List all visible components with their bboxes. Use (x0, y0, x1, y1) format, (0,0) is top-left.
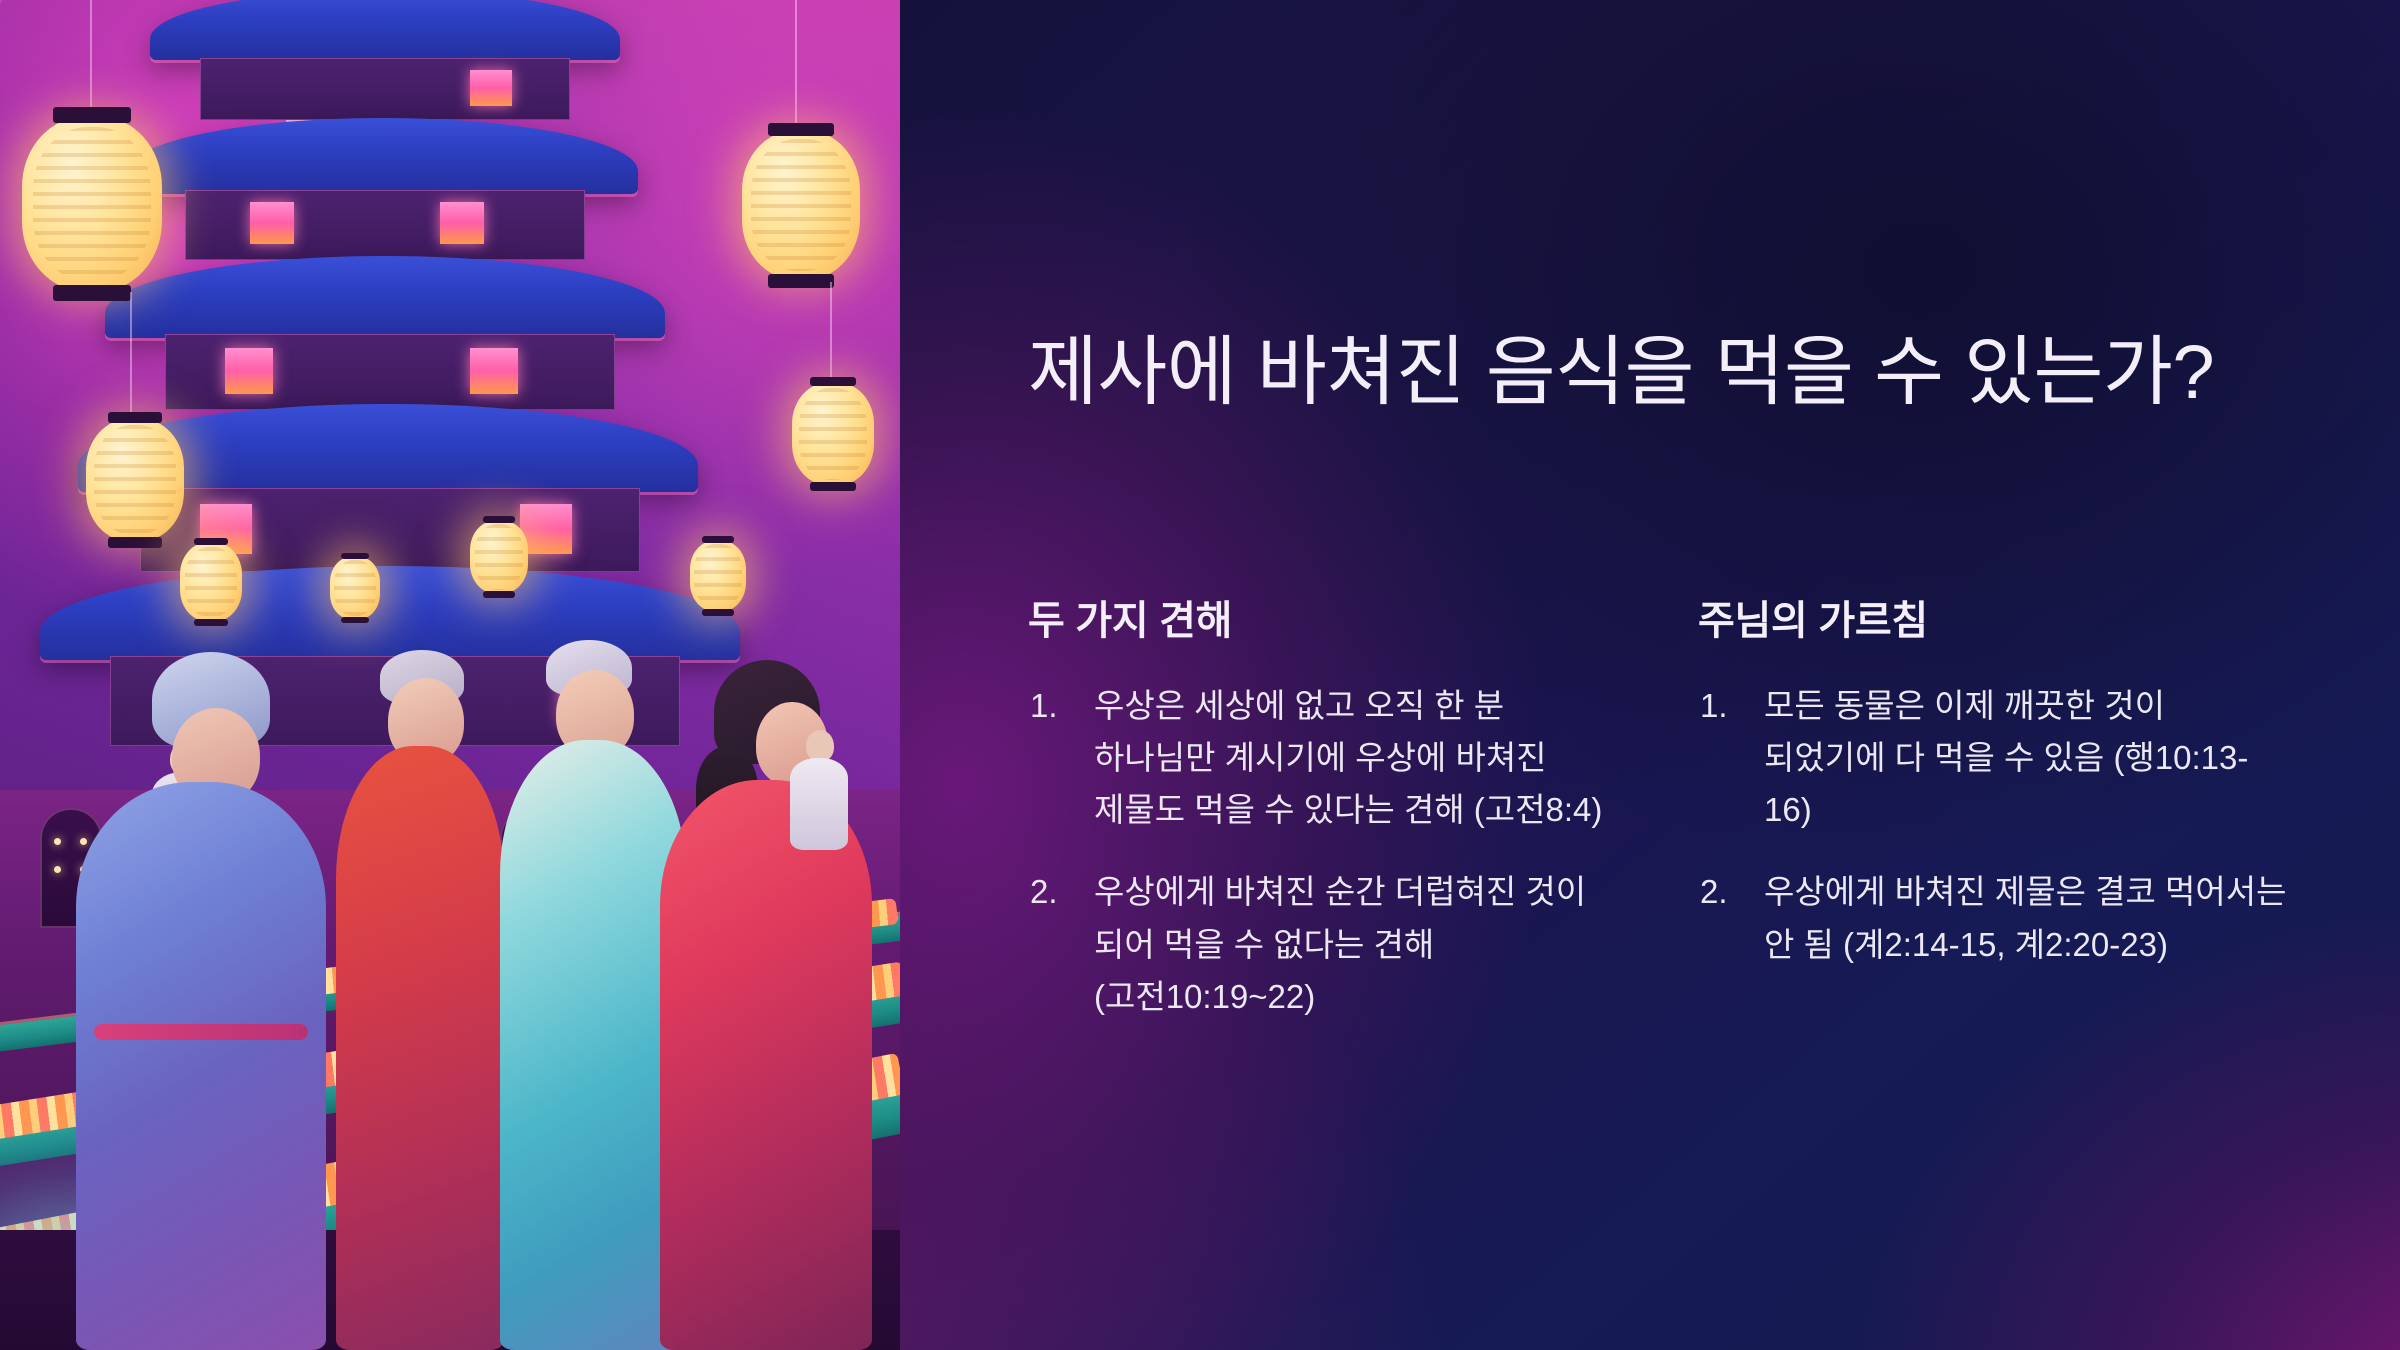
list-marker: 2. (1700, 866, 1746, 918)
list-item: 2. 우상에게 바쳐진 제물은 결코 먹어서는 안 됨 (계2:14-15, 계… (1698, 866, 2288, 970)
pagoda-storey-2 (185, 190, 585, 260)
figure-robe-teal (500, 740, 686, 1350)
lantern-ribbing (799, 388, 868, 480)
paper-lantern (742, 130, 860, 280)
paper-lantern (690, 540, 746, 612)
lantern-ribbing (475, 524, 524, 589)
list-marker: 1. (1700, 680, 1746, 732)
pagoda-window (470, 70, 512, 106)
lantern-ribbing (94, 425, 176, 534)
column-lords-teaching: 주님의 가르침 1. 모든 동물은 이제 깨끗한 것이 되었기에 다 먹을 수 … (1698, 588, 2288, 1053)
content-columns: 두 가지 견해 1. 우상은 세상에 없고 오직 한 분 하나님만 계시기에 우… (1028, 588, 2318, 1053)
lantern-ribbing (694, 544, 741, 607)
paper-lantern (22, 116, 162, 292)
pagoda-storey-1 (200, 58, 570, 120)
column-heading-lords-teaching: 주님의 가르침 (1698, 588, 2288, 646)
list-two-views: 1. 우상은 세상에 없고 오직 한 분 하나님만 계시기에 우상에 바쳐진 제… (1028, 680, 1618, 1023)
paper-lantern (330, 556, 380, 620)
figure-robe-crimson (660, 780, 872, 1350)
figure-sash (94, 1024, 308, 1040)
pagoda-roof-1 (150, 0, 620, 60)
arch-light (54, 838, 61, 845)
arch-light (54, 866, 61, 873)
paper-lantern (86, 418, 184, 542)
lantern-ribbing (751, 139, 850, 271)
list-item-text: 우상에게 바쳐진 순간 더럽혀진 것이 되어 먹을 수 없다는 견해 (고전10… (1094, 873, 1586, 1014)
temple-market-illustration (0, 0, 900, 1350)
list-marker: 1. (1030, 680, 1076, 732)
pagoda-window (250, 202, 294, 244)
figure-red-robed-man (336, 650, 504, 1350)
list-item: 1. 모든 동물은 이제 깨끗한 것이 되었기에 다 먹을 수 있음 (행10:… (1698, 680, 2288, 836)
figure-robe-red (336, 746, 504, 1350)
list-lords-teaching: 1. 모든 동물은 이제 깨끗한 것이 되었기에 다 먹을 수 있음 (행10:… (1698, 680, 2288, 971)
column-two-views: 두 가지 견해 1. 우상은 세상에 없고 오직 한 분 하나님만 계시기에 우… (1028, 588, 1618, 1053)
figure-teal-robed-man (500, 640, 686, 1350)
lantern-wire (830, 282, 832, 386)
paper-lantern (792, 382, 874, 486)
list-marker: 2. (1030, 866, 1076, 918)
lantern-ribbing (334, 560, 376, 616)
lantern-ribbing (185, 547, 237, 617)
list-item: 1. 우상은 세상에 없고 오직 한 분 하나님만 계시기에 우상에 바쳐진 제… (1028, 680, 1618, 836)
lantern-ribbing (33, 127, 151, 282)
list-item: 2. 우상에게 바쳐진 순간 더럽혀진 것이 되어 먹을 수 없다는 견해 (고… (1028, 866, 1618, 1022)
lantern-wire (130, 292, 132, 422)
list-item-text: 모든 동물은 이제 깨끗한 것이 되었기에 다 먹을 수 있음 (행10:13-… (1764, 687, 2248, 828)
slide-title: 제사에 바쳐진 음식을 먹을 수 있는가? (1028, 323, 2243, 423)
figure-robe-blue (76, 782, 326, 1350)
presentation-slide: 제사에 바쳐진 음식을 먹을 수 있는가? 두 가지 견해 1. 우상은 세상에… (0, 0, 2400, 1350)
pagoda-window (225, 348, 273, 394)
list-item-text: 우상에게 바쳐진 제물은 결코 먹어서는 안 됨 (계2:14-15, 계2:2… (1764, 873, 2286, 962)
figure-turbaned-man (76, 652, 326, 1350)
figure-vendor-far-right (790, 730, 848, 850)
pagoda-window (470, 348, 518, 394)
pagoda-window (440, 202, 484, 244)
column-heading-two-views: 두 가지 견해 (1028, 588, 1618, 646)
paper-lantern (180, 542, 242, 622)
lantern-wire (795, 0, 797, 132)
lantern-wire (90, 0, 92, 118)
figure-robe (790, 758, 848, 850)
paper-lantern (470, 520, 528, 594)
list-item-text: 우상은 세상에 없고 오직 한 분 하나님만 계시기에 우상에 바쳐진 제물도 … (1094, 687, 1602, 828)
